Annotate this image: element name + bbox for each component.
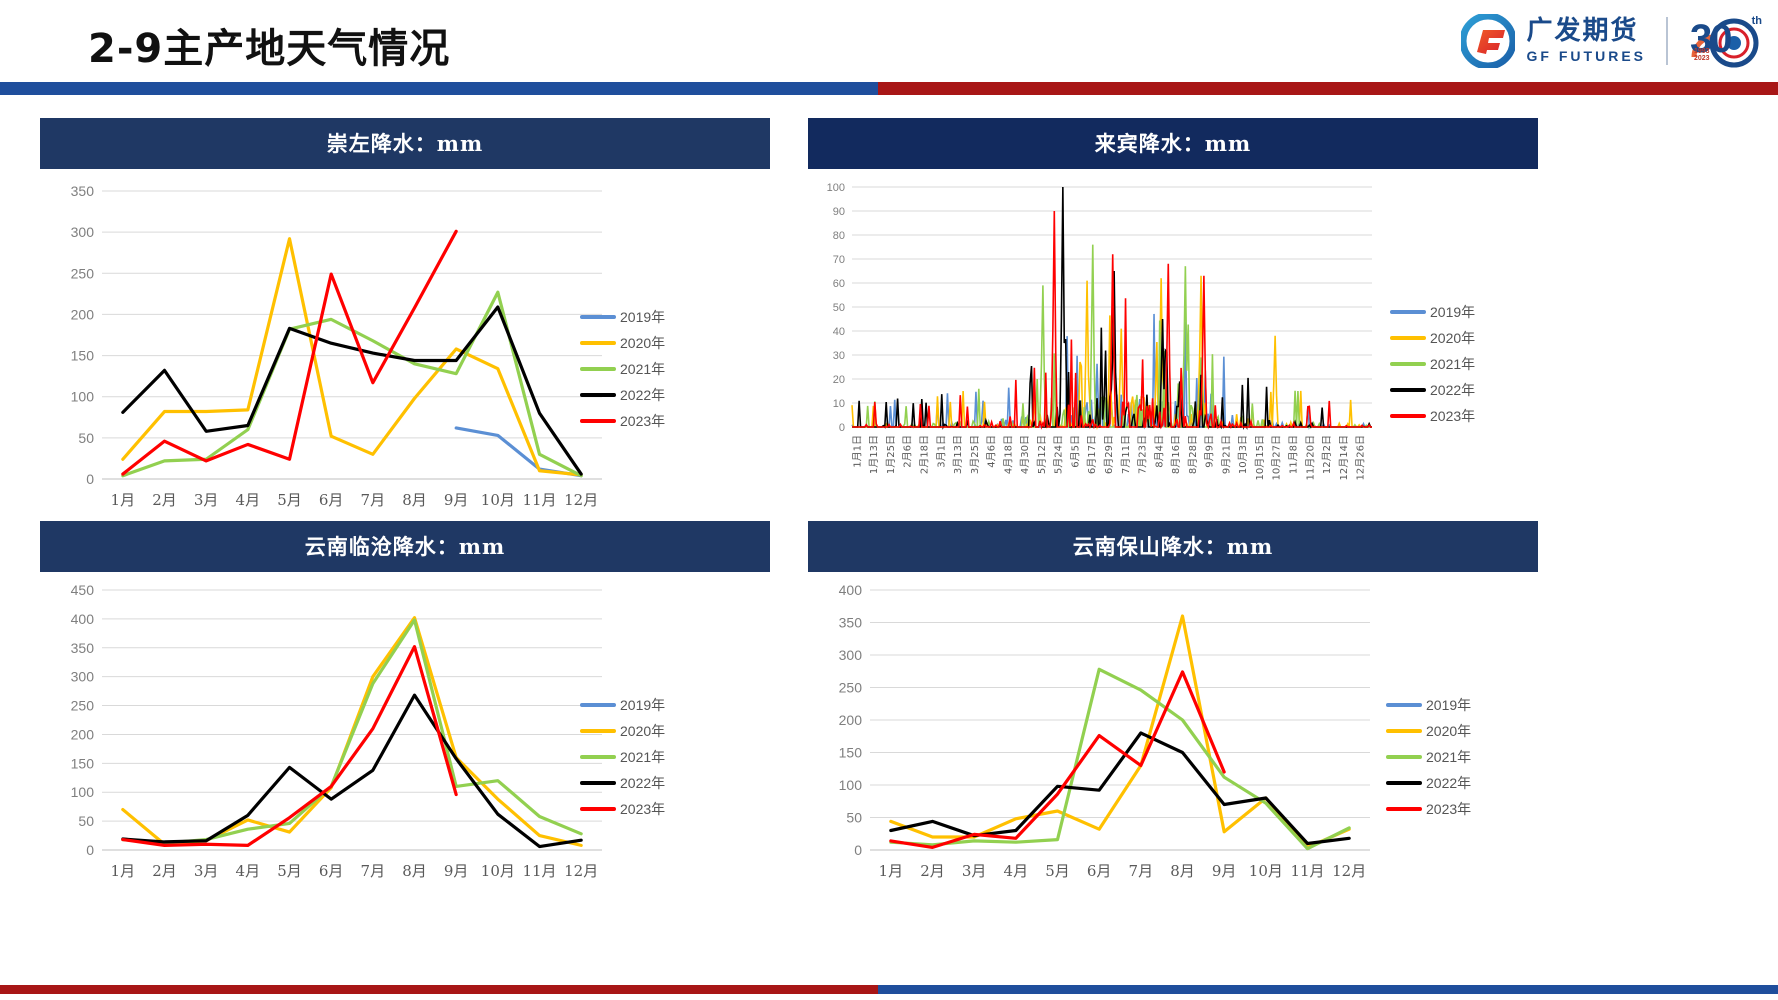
x-tick-label: 8月28日	[1187, 435, 1199, 474]
legend-swatch-icon	[1386, 807, 1422, 811]
anniversary-badge-icon: 30 th 19932023	[1688, 13, 1764, 69]
legend-label: 2022年	[620, 385, 665, 405]
legend-swatch-icon	[580, 393, 616, 397]
legend-label: 2019年	[1426, 695, 1471, 715]
chart-panel-chongzuo: 崇左降水：mm 0501001502002503003501月2月3月4月5月6…	[40, 118, 770, 539]
x-tick-label: 7月	[361, 491, 386, 509]
legend-item-2020年[interactable]: 2020年	[580, 718, 665, 744]
legend-label: 2021年	[1426, 747, 1471, 767]
series-line-2019年	[456, 428, 581, 476]
legend-item-2022年[interactable]: 2022年	[1386, 770, 1471, 796]
x-tick-label: 6月	[319, 491, 344, 509]
legend-item-2019年[interactable]: 2019年	[1386, 692, 1471, 718]
y-tick-label: 200	[839, 712, 863, 728]
logo-chinese-name: 广发期货	[1527, 18, 1646, 45]
chart-panel-baoshan: 云南保山降水：mm 0501001502002503003504001月2月3月…	[808, 521, 1538, 922]
chart-legend-laibin: 2019年2020年2021年2022年2023年	[1390, 299, 1475, 429]
y-tick-label: 450	[71, 582, 95, 598]
legend-item-2021年[interactable]: 2021年	[580, 744, 665, 770]
y-tick-label: 60	[833, 278, 845, 290]
legend-swatch-icon	[1390, 388, 1426, 392]
series-line-2021年	[123, 620, 581, 843]
legend-label: 2021年	[1430, 354, 1475, 374]
x-tick-label: 9月	[444, 491, 469, 509]
x-tick-label: 2月6日	[902, 435, 914, 468]
x-tick-label: 4月30日	[1019, 435, 1031, 474]
y-tick-label: 30	[833, 350, 845, 362]
legend-label: 2023年	[1426, 799, 1471, 819]
y-tick-label: 100	[71, 784, 95, 800]
x-tick-label: 8月16日	[1170, 435, 1182, 474]
x-tick-label: 1月1日	[851, 435, 863, 468]
x-tick-label: 4月18日	[1002, 435, 1014, 474]
legend-label: 2019年	[620, 307, 665, 327]
legend-swatch-icon	[1390, 336, 1426, 340]
chart-plot-baoshan: 0501001502002503003504001月2月3月4月5月6月7月8月…	[808, 572, 1538, 922]
x-tick-label: 6月29日	[1103, 435, 1115, 474]
x-tick-label: 1月	[879, 862, 904, 880]
y-tick-label: 250	[839, 680, 863, 696]
chart-plot-laibin: 01020304050607080901001月1日1月13日1月25日2月6日…	[808, 169, 1538, 539]
legend-item-2023年[interactable]: 2023年	[580, 408, 665, 434]
x-tick-label: 3月13日	[952, 435, 964, 474]
x-tick-label: 9月9日	[1204, 435, 1216, 468]
y-tick-label: 350	[839, 615, 863, 631]
y-tick-label: 350	[71, 183, 95, 199]
x-tick-label: 12月14日	[1338, 435, 1350, 480]
x-tick-label: 6月5日	[1069, 435, 1081, 468]
legend-item-2023年[interactable]: 2023年	[1390, 403, 1475, 429]
x-tick-label: 8月	[1170, 862, 1195, 880]
y-tick-label: 300	[839, 647, 863, 663]
y-tick-label: 300	[71, 224, 95, 240]
legend-item-2023年[interactable]: 2023年	[580, 796, 665, 822]
legend-item-2019年[interactable]: 2019年	[1390, 299, 1475, 325]
legend-item-2022年[interactable]: 2022年	[580, 770, 665, 796]
y-tick-label: 300	[71, 669, 95, 685]
x-tick-label: 8月	[402, 862, 427, 880]
x-tick-label: 3月25日	[969, 435, 981, 474]
legend-swatch-icon	[580, 807, 616, 811]
x-tick-label: 5月12日	[1036, 435, 1048, 474]
legend-label: 2022年	[620, 773, 665, 793]
brand-logo: 广发期货 GF FUTURES 30 th 19932023	[1461, 10, 1764, 72]
x-tick-label: 6月	[1087, 862, 1112, 880]
legend-swatch-icon	[580, 755, 616, 759]
x-tick-label: 12月26日	[1355, 435, 1367, 480]
legend-swatch-icon	[1386, 781, 1422, 785]
legend-swatch-icon	[1386, 755, 1422, 759]
legend-item-2023年[interactable]: 2023年	[1386, 796, 1471, 822]
x-tick-label: 7月	[361, 862, 386, 880]
y-tick-label: 250	[71, 265, 95, 281]
legend-label: 2019年	[620, 695, 665, 715]
legend-item-2019年[interactable]: 2019年	[580, 304, 665, 330]
chart-plot-lincang: 0501001502002503003504004501月2月3月4月5月6月7…	[40, 572, 770, 922]
y-tick-label: 350	[71, 640, 95, 656]
x-tick-label: 12月	[1332, 862, 1366, 880]
x-tick-label: 8月4日	[1153, 435, 1165, 468]
legend-swatch-icon	[580, 703, 616, 707]
x-tick-label: 4月	[236, 862, 261, 880]
x-tick-label: 9月	[1212, 862, 1237, 880]
x-tick-label: 11月20日	[1304, 435, 1316, 480]
legend-label: 2020年	[1430, 328, 1475, 348]
x-tick-label: 10月27日	[1271, 435, 1283, 480]
header-rule-red	[878, 82, 1778, 95]
y-tick-label: 40	[833, 326, 845, 338]
legend-swatch-icon	[580, 367, 616, 371]
x-tick-label: 10月	[481, 491, 515, 509]
anniversary-suffix: th	[1752, 15, 1762, 27]
legend-label: 2021年	[620, 747, 665, 767]
x-tick-label: 1月	[111, 862, 136, 880]
chart-title-chongzuo: 崇左降水：mm	[40, 118, 770, 169]
x-tick-label: 11月8日	[1288, 435, 1300, 474]
x-tick-label: 2月	[152, 862, 177, 880]
x-tick-label: 5月	[277, 491, 302, 509]
y-tick-label: 0	[86, 471, 94, 487]
chart-panel-lincang: 云南临沧降水：mm 0501001502002503003504004501月2…	[40, 521, 770, 922]
x-tick-label: 3月1日	[935, 435, 947, 468]
series-line-2023年	[852, 211, 1372, 427]
legend-label: 2021年	[620, 359, 665, 379]
y-tick-label: 70	[833, 254, 845, 266]
x-tick-label: 7月	[1129, 862, 1154, 880]
legend-item-2021年[interactable]: 2021年	[580, 356, 665, 382]
y-tick-label: 250	[71, 698, 95, 714]
legend-item-2020年[interactable]: 2020年	[1390, 325, 1475, 351]
x-tick-label: 11月	[522, 491, 556, 509]
x-tick-label: 10月15日	[1254, 435, 1266, 480]
legend-swatch-icon	[1390, 414, 1426, 418]
y-tick-label: 200	[71, 726, 95, 742]
x-tick-label: 12月2日	[1321, 435, 1333, 474]
legend-item-2020年[interactable]: 2020年	[580, 330, 665, 356]
y-tick-label: 50	[78, 813, 94, 829]
legend-swatch-icon	[580, 315, 616, 319]
x-tick-label: 11月	[1290, 862, 1324, 880]
legend-swatch-icon	[580, 729, 616, 733]
y-tick-label: 0	[86, 842, 94, 858]
x-tick-label: 6月17日	[1086, 435, 1098, 474]
legend-label: 2020年	[620, 721, 665, 741]
x-tick-label: 3月	[962, 862, 987, 880]
x-tick-label: 2月	[920, 862, 945, 880]
legend-item-2021年[interactable]: 2021年	[1386, 744, 1471, 770]
x-tick-label: 5月	[277, 862, 302, 880]
x-tick-label: 10月	[481, 862, 515, 880]
logo-english-name: GF FUTURES	[1527, 48, 1646, 64]
y-tick-label: 50	[846, 810, 862, 826]
y-tick-label: 0	[839, 422, 845, 434]
slide-root: 2-9主产地天气情况 广发期货	[0, 0, 1778, 1000]
y-tick-label: 150	[839, 745, 863, 761]
series-line-2020年	[123, 239, 581, 475]
x-tick-label: 12月	[564, 862, 598, 880]
chart-panel-laibin: 来宾降水：mm 01020304050607080901001月1日1月13日1…	[808, 118, 1538, 539]
legend-swatch-icon	[1390, 310, 1426, 314]
x-tick-label: 2月18日	[918, 435, 930, 474]
legend-label: 2020年	[1426, 721, 1471, 741]
y-tick-label: 0	[854, 842, 862, 858]
legend-swatch-icon	[1386, 703, 1422, 707]
x-tick-label: 9月21日	[1220, 435, 1232, 474]
chart-title-baoshan: 云南保山降水：mm	[808, 521, 1538, 572]
footer-rule-blue	[878, 985, 1778, 994]
x-tick-label: 1月	[111, 491, 136, 509]
x-tick-label: 4月6日	[986, 435, 998, 468]
y-tick-label: 10	[833, 398, 845, 410]
chart-plot-chongzuo: 0501001502002503003501月2月3月4月5月6月7月8月9月1…	[40, 169, 770, 539]
y-tick-label: 400	[71, 611, 95, 627]
y-tick-label: 90	[833, 206, 845, 218]
x-tick-label: 5月	[1045, 862, 1070, 880]
x-tick-label: 10月3日	[1237, 435, 1249, 474]
chart-legend-baoshan: 2019年2020年2021年2022年2023年	[1386, 692, 1471, 822]
legend-label: 2023年	[620, 799, 665, 819]
y-tick-label: 150	[71, 348, 95, 364]
x-tick-label: 11月	[522, 862, 556, 880]
legend-label: 2022年	[1430, 380, 1475, 400]
y-tick-label: 100	[71, 389, 95, 405]
y-tick-label: 80	[833, 230, 845, 242]
x-tick-label: 1月25日	[885, 435, 897, 474]
y-tick-label: 50	[78, 430, 94, 446]
y-tick-label: 50	[833, 302, 845, 314]
x-tick-label: 9月	[444, 862, 469, 880]
x-tick-label: 7月23日	[1137, 435, 1149, 474]
slide-header: 2-9主产地天气情况 广发期货	[0, 0, 1778, 88]
y-tick-label: 100	[839, 777, 863, 793]
y-tick-label: 150	[71, 755, 95, 771]
x-tick-label: 12月	[564, 491, 598, 509]
legend-swatch-icon	[580, 781, 616, 785]
x-tick-label: 3月	[194, 491, 219, 509]
x-tick-label: 3月	[194, 862, 219, 880]
legend-label: 2023年	[620, 411, 665, 431]
legend-item-2021年[interactable]: 2021年	[1390, 351, 1475, 377]
x-tick-label: 5月24日	[1053, 435, 1065, 474]
y-tick-label: 20	[833, 374, 845, 386]
x-tick-label: 7月11日	[1120, 435, 1132, 474]
page-title: 2-9主产地天气情况	[88, 16, 450, 74]
x-tick-label: 6月	[319, 862, 344, 880]
series-line-2023年	[891, 672, 1224, 848]
legend-item-2020年[interactable]: 2020年	[1386, 718, 1471, 744]
chart-legend-chongzuo: 2019年2020年2021年2022年2023年	[580, 304, 665, 434]
legend-item-2022年[interactable]: 2022年	[1390, 377, 1475, 403]
legend-item-2019年[interactable]: 2019年	[580, 692, 665, 718]
legend-swatch-icon	[1386, 729, 1422, 733]
legend-label: 2019年	[1430, 302, 1475, 322]
chart-title-laibin: 来宾降水：mm	[808, 118, 1538, 169]
gf-logo-icon	[1461, 14, 1515, 68]
x-tick-label: 1月13日	[868, 435, 880, 474]
legend-swatch-icon	[580, 341, 616, 345]
x-tick-label: 2月	[152, 491, 177, 509]
legend-swatch-icon	[1390, 362, 1426, 366]
x-tick-label: 4月	[1004, 862, 1029, 880]
series-line-2022年	[123, 695, 581, 846]
legend-label: 2020年	[620, 333, 665, 353]
logo-divider	[1666, 17, 1668, 65]
x-tick-label: 8月	[402, 491, 427, 509]
legend-label: 2022年	[1426, 773, 1471, 793]
anniversary-years: 19932023	[1694, 48, 1710, 63]
chart-legend-lincang: 2019年2020年2021年2022年2023年	[580, 692, 665, 822]
legend-item-2022年[interactable]: 2022年	[580, 382, 665, 408]
x-tick-label: 10月	[1249, 862, 1283, 880]
legend-swatch-icon	[580, 419, 616, 423]
y-tick-label: 200	[71, 306, 95, 322]
y-tick-label: 400	[839, 582, 863, 598]
legend-label: 2023年	[1430, 406, 1475, 426]
y-tick-label: 100	[827, 182, 845, 194]
x-tick-label: 4月	[236, 491, 261, 509]
chart-title-lincang: 云南临沧降水：mm	[40, 521, 770, 572]
